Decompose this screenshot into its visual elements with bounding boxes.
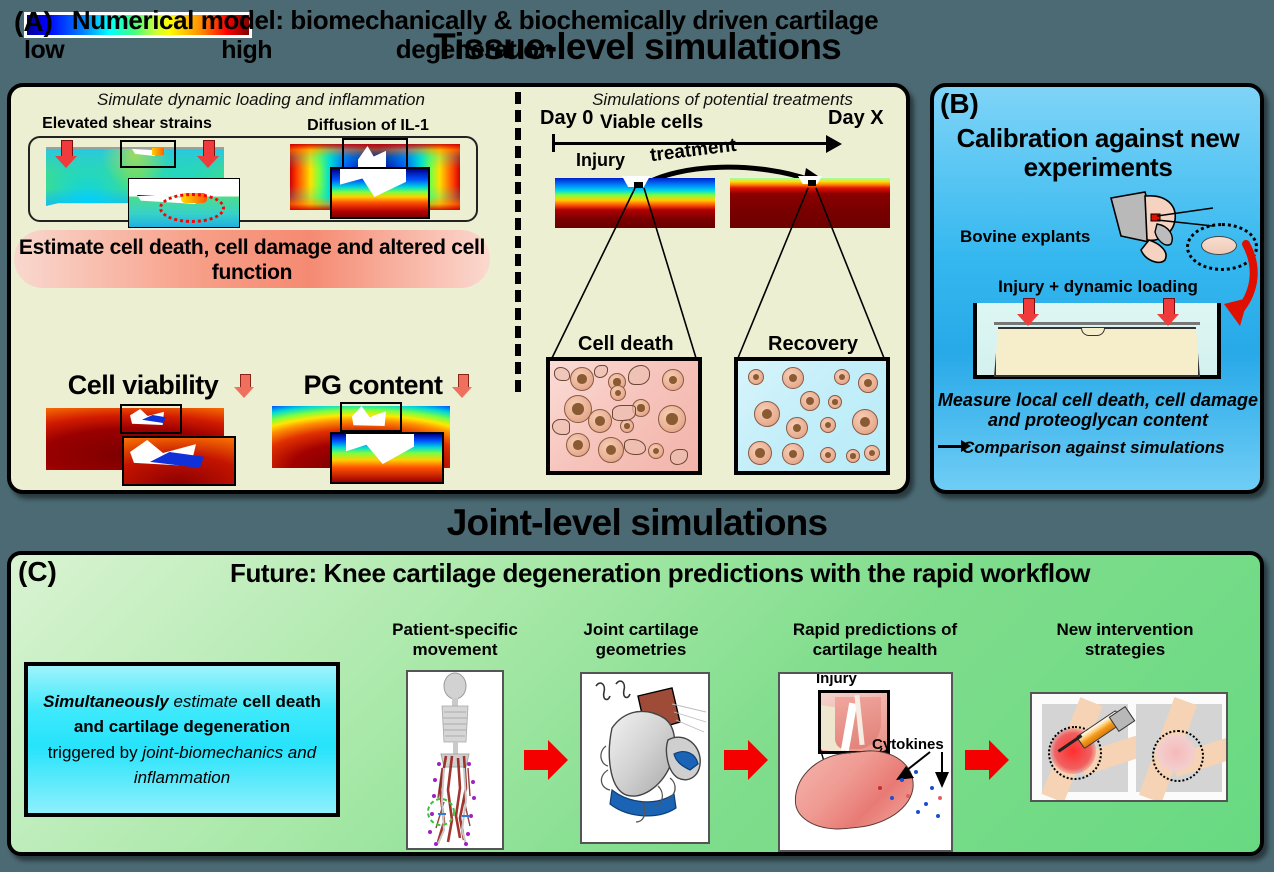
panel-a-title: Numerical model: biomechanically & bioch… — [60, 6, 890, 64]
panel-c-title: Future: Knee cartilage degeneration pred… — [70, 558, 1250, 589]
joint-level-title: Joint-level simulations — [0, 502, 1274, 544]
day-0-label: Day 0 — [540, 107, 593, 130]
shear-roi-box — [120, 140, 176, 168]
simulate-loading-heading: Simulate dynamic loading and inflammatio… — [36, 90, 486, 110]
cytokine-dot — [930, 786, 934, 790]
cytokine-dot — [890, 796, 894, 800]
injury-label: Injury — [576, 150, 625, 171]
panel-a-divider — [515, 92, 521, 392]
skeleton-graphic — [408, 672, 502, 848]
il1-zoom-inset — [330, 167, 430, 219]
panel-c-tag: (C) — [18, 556, 57, 588]
estimate-banner-text: Estimate cell death, cell damage and alt… — [14, 236, 490, 286]
pg-content-zoom-inset — [330, 432, 444, 484]
timeline-start-cap — [552, 134, 555, 152]
intervention-image — [1030, 692, 1228, 802]
step-2-label: Joint cartilage geometries — [565, 620, 717, 659]
viable-cells-label: Viable cells — [600, 112, 703, 134]
healed-joint-photo — [1136, 704, 1222, 792]
cell-viability-roi-box — [120, 404, 182, 434]
pg-content-label: PG content — [268, 370, 478, 401]
cytokine-dot — [924, 802, 928, 806]
day-x-label: Day X — [828, 107, 884, 130]
injection-photo — [1042, 704, 1128, 792]
bovine-explants-label: Bovine explants — [960, 227, 1090, 247]
cell-death-label: Cell death — [578, 333, 674, 356]
cell-death-micrograph — [546, 357, 702, 475]
panel-b-title: Calibration against new experiments — [940, 124, 1256, 181]
panel-b-tag: (B) — [940, 88, 979, 120]
comparison-text: Comparison against simulations — [962, 438, 1225, 458]
explant-tissue-block — [994, 327, 1200, 377]
recovery-label: Recovery — [768, 333, 858, 356]
joint-geometry-image — [580, 672, 710, 844]
injury-dynamic-loading-label: Injury + dynamic loading — [940, 277, 1256, 297]
summary-part2: estimate — [169, 692, 243, 711]
shear-strain-label: Elevated shear strains — [22, 115, 232, 133]
step-4-label: New intervention strategies — [1030, 620, 1220, 659]
cytokine-dot — [906, 794, 910, 798]
cytokine-dot — [938, 796, 942, 800]
cell-viability-zoom-inset — [122, 436, 236, 486]
summary-part4: triggered by — [48, 743, 143, 762]
timeline-arrow-icon — [826, 135, 842, 153]
knee-geometry-graphic — [582, 674, 708, 842]
measure-text: Measure local cell death, cell damage an… — [936, 390, 1260, 430]
rapid-predictions-image: Injury Cytokines — [778, 672, 953, 852]
comparison-arrow-icon — [938, 445, 962, 448]
cytokine-dot — [900, 778, 904, 782]
step-1-label: Patient-specific movement — [380, 620, 530, 659]
cytokine-dot — [936, 814, 940, 818]
cytokine-dot — [914, 770, 918, 774]
summary-part1: Simultaneously — [43, 692, 169, 711]
panel-a-tag: (A) — [14, 6, 53, 38]
panel-c-summary-box: Simultaneously estimate cell death and c… — [24, 662, 340, 817]
summary-part5: joint-biomechanics and inflammation — [134, 743, 316, 788]
cytokine-dot — [878, 786, 882, 790]
cytokine-dot — [916, 810, 920, 814]
patient-movement-image — [406, 670, 504, 850]
shear-strain-zoom-inset — [128, 178, 240, 228]
il1-diffusion-label: Diffusion of IL-1 — [268, 117, 468, 135]
pg-content-roi-box — [340, 402, 402, 432]
recovery-micrograph — [734, 357, 890, 475]
step-3-label: Rapid predictions of cartilage health — [780, 620, 970, 659]
cell-viability-label: Cell viability — [38, 370, 248, 401]
